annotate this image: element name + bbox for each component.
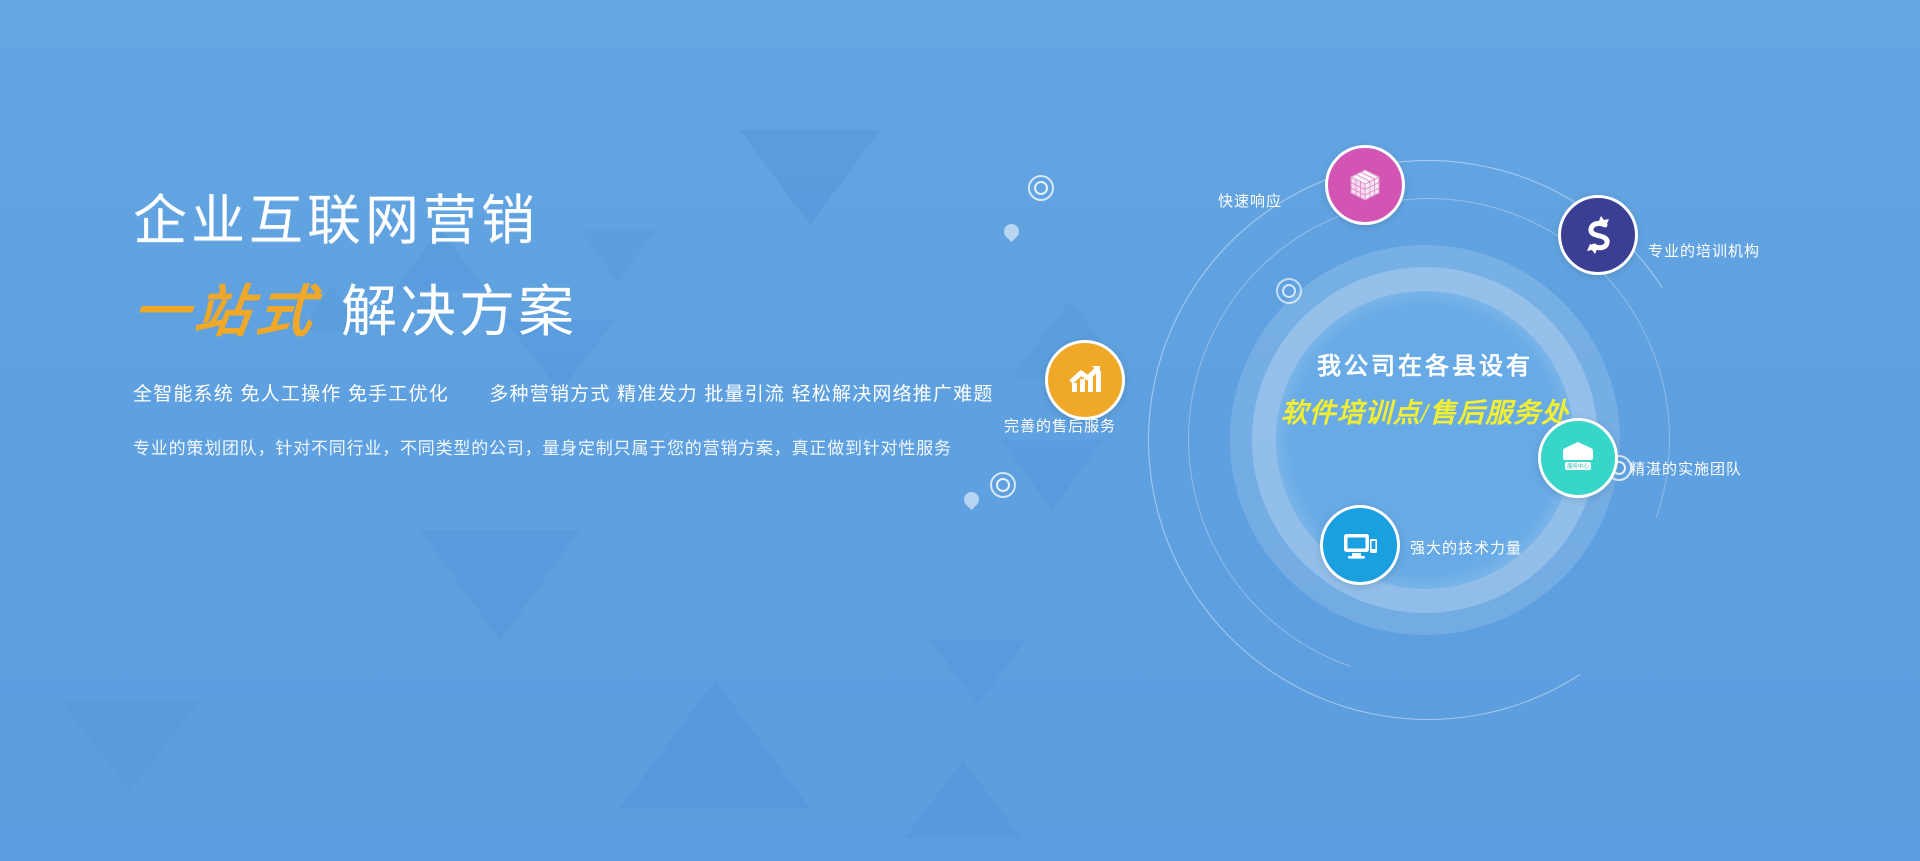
decor-triangle xyxy=(930,640,1026,704)
page-title: 企业互联网营销 xyxy=(133,190,1033,254)
headline-accent: 一站式 xyxy=(128,280,323,345)
service-node-label-tech-power: 强大的技术力量 xyxy=(1410,537,1522,558)
service-node-label-training-org: 专业的培训机构 xyxy=(1648,240,1760,261)
headline-rest: 解决方案 xyxy=(341,280,577,343)
service-ring-graphic: 我公司在各县设有 软件培训点/售后服务处 xyxy=(1080,100,1900,780)
hero-banner: 企业互联网营销 一站式解决方案 全智能系统 免人工操作 免手工优化 多种营销方式… xyxy=(0,0,1920,861)
ring-center-text: 我公司在各县设有 软件培训点/售后服务处 xyxy=(1276,346,1574,430)
monitor-icon xyxy=(1338,523,1382,567)
decor-triangle xyxy=(420,530,580,640)
bar-chart-icon xyxy=(1064,359,1106,401)
map-pin-icon xyxy=(961,489,982,510)
service-node-tech-power[interactable] xyxy=(1320,505,1400,585)
service-node-label-fast-response: 快速响应 xyxy=(1218,190,1282,211)
hero-copy: 企业互联网营销 一站式解决方案 全智能系统 免人工操作 免手工优化 多种营销方式… xyxy=(133,190,1033,459)
service-node-training-org[interactable] xyxy=(1558,195,1638,275)
service-node-fast-response[interactable] xyxy=(1325,145,1405,225)
ring-center-line-1: 我公司在各县设有 xyxy=(1276,346,1574,381)
service-node-implementation-team[interactable]: 服务中心 xyxy=(1538,418,1618,498)
service-center-icon: 服务中心 xyxy=(1556,436,1600,480)
cube-icon xyxy=(1345,165,1385,205)
headline-secondary: 一站式解决方案 xyxy=(133,280,1033,345)
target-marker-icon xyxy=(990,472,1016,498)
decor-triangle xyxy=(60,700,200,792)
feature-list-line: 全智能系统 免人工操作 免手工优化 多种营销方式 精准发力 批量引流 轻松解决网… xyxy=(133,379,1033,406)
decor-triangle xyxy=(620,680,810,808)
ring-center-line-2: 软件培训点/售后服务处 xyxy=(1276,391,1574,430)
decor-triangle xyxy=(905,760,1021,838)
ribbon-s-icon xyxy=(1577,214,1619,256)
service-node-after-sales[interactable] xyxy=(1045,340,1125,420)
description-line: 专业的策划团队，针对不同行业，不同类型的公司，量身定制只属于您的营销方案，真正做… xyxy=(133,434,1033,459)
service-node-label-implementation-team: 精湛的实施团队 xyxy=(1630,458,1742,479)
target-marker-icon xyxy=(1276,278,1302,304)
svg-text:服务中心: 服务中心 xyxy=(1567,462,1589,470)
